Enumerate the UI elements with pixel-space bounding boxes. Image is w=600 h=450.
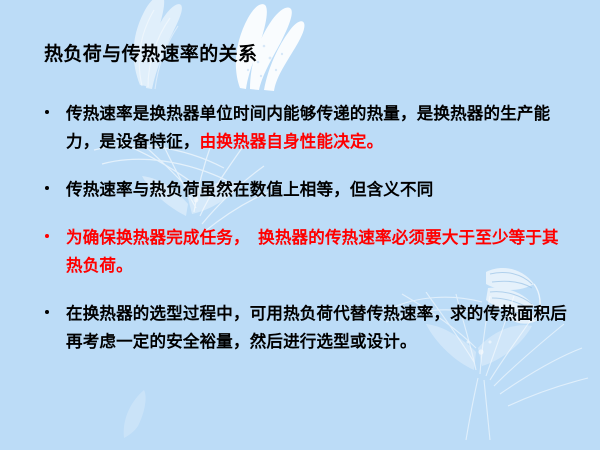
page-title: 热负荷与传热速率的关系 [44, 42, 257, 66]
bullet-marker-icon [45, 110, 49, 114]
presentation-slide: 热负荷与传热速率的关系 传热速率是换热器单位时间内能够传递的热量，是换热器的生产… [0, 0, 600, 450]
list-item-text: 在换热器的选型过程中，可用热负荷代替传热速率，求的传热面积后再考虑一定的安全裕量… [66, 300, 570, 356]
list-item-segment: 传热速率与热负荷虽然在数值上相等，但含义不同 [66, 180, 433, 199]
list-item-text: 为确保换热器完成任务， 换热器的传热速率必须要大于至少等于其热负荷。 [66, 224, 570, 280]
list-item-text: 传热速率与热负荷虽然在数值上相等，但含义不同 [66, 176, 570, 204]
bullet-marker-icon [45, 186, 49, 190]
butterfly-wing-bottom-left-icon [116, 376, 196, 446]
bullet-marker-icon [45, 310, 49, 314]
list-item-segment-highlight: 为确保换热器完成任务， 换热器的传热速率必须要大于至少等于其热负荷。 [66, 228, 559, 275]
list-item: 传热速率是换热器单位时间内能够传递的热量，是换热器的生产能力，是设备特征，由换热… [40, 100, 570, 156]
list-item-segment: 在换热器的选型过程中，可用热负荷代替传热速率，求的传热面积后再考虑一定的安全裕量… [66, 304, 567, 351]
list-item: 在换热器的选型过程中，可用热负荷代替传热速率，求的传热面积后再考虑一定的安全裕量… [40, 300, 570, 356]
list-item-segment-highlight: 由换热器自身性能决定。 [200, 132, 384, 151]
list-item: 传热速率与热负荷虽然在数值上相等，但含义不同 [40, 176, 570, 204]
bullet-marker-icon [45, 234, 49, 238]
list-item-text: 传热速率是换热器单位时间内能够传递的热量，是换热器的生产能力，是设备特征，由换热… [66, 100, 570, 156]
list-item: 为确保换热器完成任务， 换热器的传热速率必须要大于至少等于其热负荷。 [40, 224, 570, 280]
bullet-list: 传热速率是换热器单位时间内能够传递的热量，是换热器的生产能力，是设备特征，由换热… [40, 100, 570, 376]
